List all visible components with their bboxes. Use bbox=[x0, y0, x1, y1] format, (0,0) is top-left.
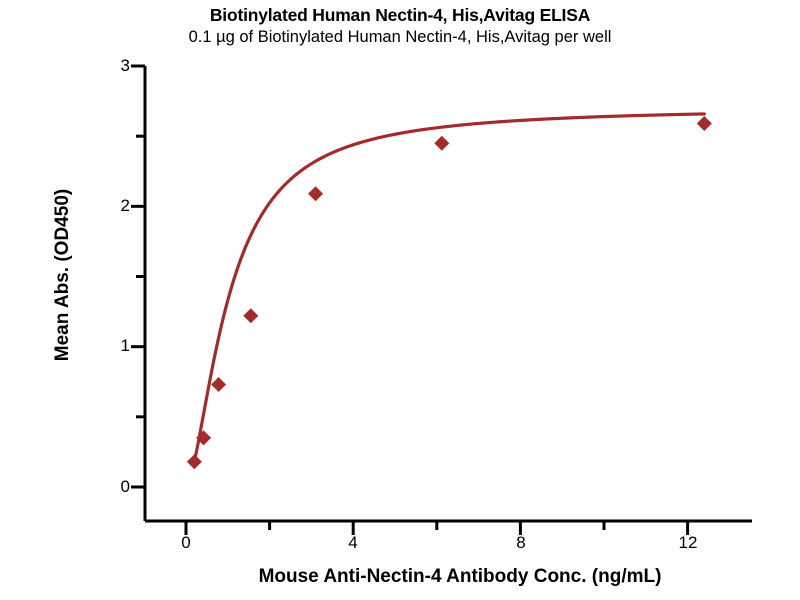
elisa-chart-figure: Biotinylated Human Nectin-4, His,Avitag … bbox=[0, 0, 800, 600]
title-block: Biotinylated Human Nectin-4, His,Avitag … bbox=[0, 4, 800, 48]
x-tick-label-8: 8 bbox=[506, 533, 536, 553]
x-tick-label-4: 4 bbox=[338, 533, 368, 553]
y-axis-label: Mean Abs. (OD450) bbox=[52, 65, 74, 485]
data-point bbox=[187, 454, 202, 469]
y-tick-label-3: 3 bbox=[100, 56, 130, 76]
x-tick-label-0: 0 bbox=[171, 533, 201, 553]
data-point bbox=[211, 377, 226, 392]
chart-title: Biotinylated Human Nectin-4, His,Avitag … bbox=[0, 4, 800, 26]
y-tick-label-1: 1 bbox=[100, 336, 130, 356]
y-tick-label-2: 2 bbox=[100, 196, 130, 216]
binding-curve bbox=[194, 114, 704, 462]
data-point bbox=[308, 186, 323, 201]
data-point bbox=[697, 116, 712, 131]
x-axis-ticks bbox=[186, 521, 688, 535]
data-point bbox=[434, 136, 449, 151]
chart-subtitle: 0.1 µg of Biotinylated Human Nectin-4, H… bbox=[0, 26, 800, 48]
data-point bbox=[243, 308, 258, 323]
y-axis-ticks bbox=[131, 66, 145, 487]
data-markers bbox=[187, 116, 712, 469]
x-tick-label-12: 12 bbox=[673, 533, 703, 553]
y-tick-label-0: 0 bbox=[100, 477, 130, 497]
x-axis-label: Mouse Anti-Nectin-4 Antibody Conc. (ng/m… bbox=[160, 566, 760, 588]
plot-area bbox=[0, 0, 800, 600]
